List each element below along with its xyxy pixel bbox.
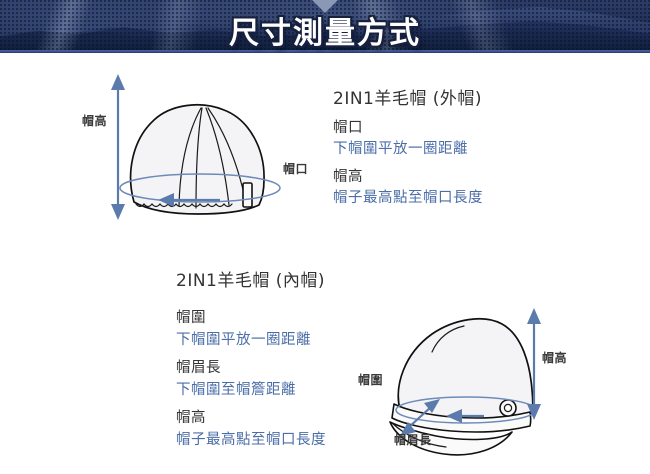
cap-snap-button [500, 400, 516, 416]
inner-cap-height-label: 帽高 [542, 349, 567, 366]
page-title: 尺寸測量方式 [0, 8, 650, 52]
outer-cap-desc-height: 帽子最高點至帽口長度 [333, 186, 483, 207]
inner-cap-term-height: 帽高 [176, 406, 206, 427]
inner-cap-desc-circumference: 下帽圍平放一圈距離 [176, 328, 311, 349]
cap-height-arrow-head-top [527, 308, 541, 324]
inner-cap-term-circumference: 帽圍 [176, 306, 206, 327]
height-arrow-head-top [111, 74, 125, 90]
inner-cap-brim-length-label: 帽眉長 [394, 431, 432, 448]
inner-cap-desc-height: 帽子最高點至帽口長度 [176, 428, 326, 449]
outer-cap-illustration [60, 58, 350, 233]
outer-cap-term-height: 帽高 [333, 165, 363, 186]
page-banner: 尺寸測量方式 [0, 0, 650, 53]
inner-cap-term-brim: 帽眉長 [176, 356, 221, 377]
inner-cap-circumference-label: 帽圍 [358, 371, 383, 388]
outer-cap-height-label: 帽高 [82, 112, 107, 129]
outer-cap-term-opening: 帽口 [333, 116, 363, 137]
size-measurement-guide: 尺寸測量方式 帽高 帽口 2IN1羊毛帽 (外帽) 帽口 下帽圍平放一圈距離 帽… [0, 0, 650, 474]
outer-cap-opening-label: 帽口 [283, 160, 308, 177]
outer-cap-section-title: 2IN1羊毛帽 (外帽) [333, 84, 482, 109]
outer-cap-desc-opening: 下帽圍平放一圈距離 [333, 137, 468, 158]
beanie-tag [243, 183, 252, 207]
height-arrow-head-bottom [111, 204, 125, 220]
inner-cap-section-title: 2IN1羊毛帽 (內帽) [176, 266, 325, 291]
inner-cap-desc-brim: 下帽圍至帽簷距離 [176, 378, 296, 399]
